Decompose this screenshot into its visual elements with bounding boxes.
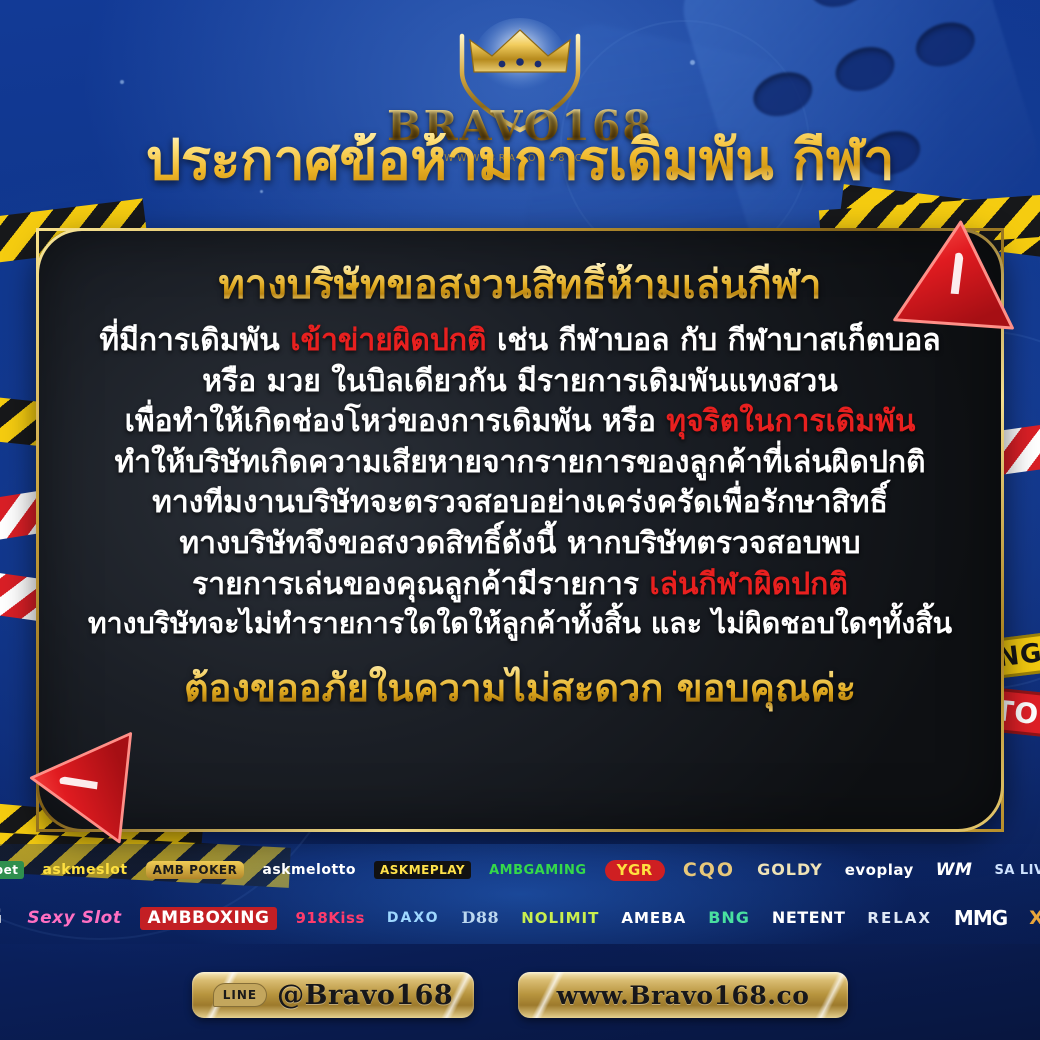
partner-logo-918kiss: 918Kiss (291, 909, 368, 928)
announcement-line: ทำให้บริษัทเกิดความเสียหายจากรายการของลู… (114, 443, 925, 483)
partner-logo-pg: PG (0, 905, 9, 931)
partner-logo-strip: PRETTY ask me bet askmeslot AMB POKER as… (0, 844, 1040, 944)
highlighted-text: ทุจริตในการเดิมพัน (666, 404, 915, 439)
announcement-line: ทางทีมงานบริษัทจะตรวจสอบอย่างเคร่งครัดเพ… (152, 483, 888, 523)
partner-logo-askmelotto: askmelotto (258, 861, 360, 879)
partner-logo-row: PG Sexy Slot AMBBOXING 918Kiss DAXO D88 … (10, 896, 1030, 940)
partner-logo-daxo: DAXO (383, 909, 444, 927)
body-text: ทางบริษัทจะไม่ทำรายการใดใดให้ลูกค้าทั้งส… (88, 607, 952, 640)
body-text: เช่น กีฬาบอล กับ กีฬาบาสเก็ตบอล (487, 323, 941, 358)
announcement-body: ที่มีการเดิมพัน เข้าข่ายผิดปกติ เช่น กีฬ… (61, 321, 979, 643)
partner-logo-salive: SA LIVE (990, 862, 1040, 879)
announcement-panel: ทางบริษัทขอสงวนสิทธิ์ห้ามเล่นกีฬา ที่มีก… (36, 228, 1004, 832)
panel-heading: ทางบริษัทขอสงวนสิทธิ์ห้ามเล่นกีฬา (218, 263, 821, 307)
website-url-text: www.Bravo168.co (557, 981, 810, 1010)
partner-logo-relax: RELAX (863, 909, 936, 928)
partner-logo-sexyslot: Sexy Slot (23, 908, 125, 929)
partner-logo-amboxing: AMBBOXING (140, 907, 278, 930)
announcement-line: ที่มีการเดิมพัน เข้าข่ายผิดปกติ เช่น กีฬ… (99, 321, 940, 361)
partner-logo-cqo: CQO (679, 859, 739, 882)
partner-logo-nolimit: NOLIMIT (517, 909, 603, 928)
body-text: รายการเล่นของคุณลูกค้ามีรายการ (192, 567, 649, 602)
partner-logo-askmebet: ask me bet (0, 861, 24, 879)
warning-triangle-icon (888, 212, 1026, 339)
partner-logo-row: PRETTY ask me bet askmeslot AMB POKER as… (10, 848, 1030, 892)
announcement-line: รายการเล่นของคุณลูกค้ามีรายการ เล่นกีฬาผ… (192, 565, 848, 605)
partner-logo-mmg: MMG (950, 906, 1011, 930)
line-id-text: @Bravo168 (277, 980, 453, 1011)
panel-footer-text: ต้องขออภัยในความไม่สะดวก ขอบคุณค่ะ (184, 657, 856, 718)
website-button[interactable]: www.Bravo168.co (518, 972, 848, 1018)
page-title: ประกาศข้อห้ามการเดิมพัน กีฬา (0, 133, 1040, 189)
partner-logo-xpg: XPG (1025, 907, 1040, 930)
line-contact-button[interactable]: LINE @Bravo168 (192, 972, 474, 1018)
partner-logo-ambgaming: AMBGAMING (485, 862, 590, 879)
body-text: หรือ มวย ในบิลเดียวกัน มีรายการเดิมพันแท… (202, 364, 838, 399)
announcement-line: ทางบริษัทจึงขอสงวดสิทธิ์ดังนี้ หากบริษัท… (179, 524, 860, 564)
partner-logo-askmeplay: ASKMEPLAY (374, 861, 471, 879)
partner-logo-ygr: YGR (605, 860, 665, 881)
partner-logo-wm: WM (932, 860, 977, 881)
highlighted-text: เล่นกีฬาผิดปกติ (649, 567, 847, 602)
partner-logo-ambpoker: AMB POKER (146, 861, 245, 879)
partner-logo-evoplay: evoplay (841, 861, 918, 880)
contact-bar-row: LINE @Bravo168 www.Bravo168.co (0, 960, 1040, 1030)
body-text: ทำให้บริษัทเกิดความเสียหายจากรายการของลู… (114, 445, 925, 480)
warning-triangle-icon (19, 718, 141, 849)
partner-logo-netent: NETENT (768, 908, 849, 928)
announcement-line: เพื่อทำให้เกิดช่องโหว่ของการเดิมพัน หรือ… (125, 402, 916, 442)
crown-icon (468, 28, 572, 80)
body-text: ที่มีการเดิมพัน (99, 323, 290, 358)
promo-poster: DANGER STOP (0, 0, 1040, 1040)
partner-logo-ameba: AMEBA (617, 909, 690, 928)
announcement-line: ทางบริษัทจะไม่ทำรายการใดใดให้ลูกค้าทั้งส… (88, 605, 952, 643)
line-icon: LINE (213, 983, 267, 1007)
body-text: เพื่อทำให้เกิดช่องโหว่ของการเดิมพัน หรือ (125, 404, 667, 439)
partner-logo-d88: D88 (458, 908, 504, 928)
body-text: ทางบริษัทจึงขอสงวดสิทธิ์ดังนี้ หากบริษัท… (179, 526, 860, 561)
partner-logo-bng: BNG (704, 908, 754, 928)
partner-logo-askmeslot: askmeslot (38, 861, 131, 879)
partner-logo-goldy: GOLDY (753, 860, 827, 880)
announcement-line: หรือ มวย ในบิลเดียวกัน มีรายการเดิมพันแท… (202, 362, 838, 402)
body-text: ทางทีมงานบริษัทจะตรวจสอบอย่างเคร่งครัดเพ… (152, 485, 888, 520)
highlighted-text: เข้าข่ายผิดปกติ (290, 323, 486, 358)
